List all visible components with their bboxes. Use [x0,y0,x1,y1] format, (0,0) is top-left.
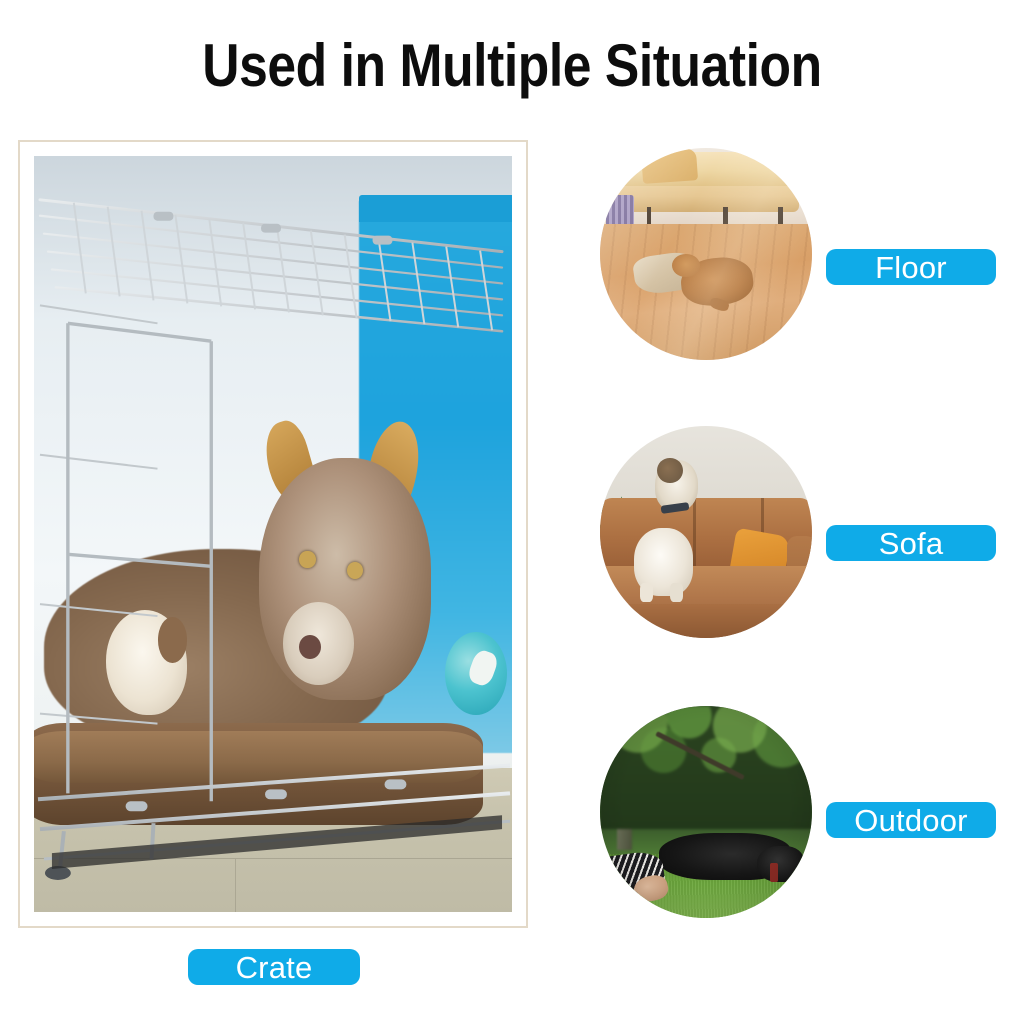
situation-image-floor [600,148,812,360]
outdoor-scene-vignette [600,706,812,918]
sofa-scene-dog-leg-right [670,583,683,602]
page-title: Used in Multiple Situation [72,34,953,97]
badge-crate[interactable]: Crate [188,949,360,985]
sofa-scene-seam-left [693,498,696,570]
crate-dog-eye-left [299,551,315,568]
situation-image-sofa [600,426,812,638]
badge-sofa[interactable]: Sofa [826,525,996,561]
crate-dog-nose [299,635,321,659]
floor-scene-sunlight [600,148,812,360]
sofa-scene-seat-edge [600,604,812,638]
sofa-scene-dog-leg-left [640,583,653,602]
crate-photo [34,156,512,912]
crate-dog-bed-bolster [34,731,483,784]
crate-photo-frame [18,140,528,928]
photo-floor-seam [34,858,512,859]
situation-image-outdoor [600,706,812,918]
photo-blue-panel-top [359,195,512,221]
sofa-scene-dog-curls [657,458,682,483]
plush-toy-ear [158,617,187,662]
photo-floor-seam-vertical [235,859,236,912]
badge-floor[interactable]: Floor [826,249,996,285]
badge-outdoor[interactable]: Outdoor [826,802,996,838]
